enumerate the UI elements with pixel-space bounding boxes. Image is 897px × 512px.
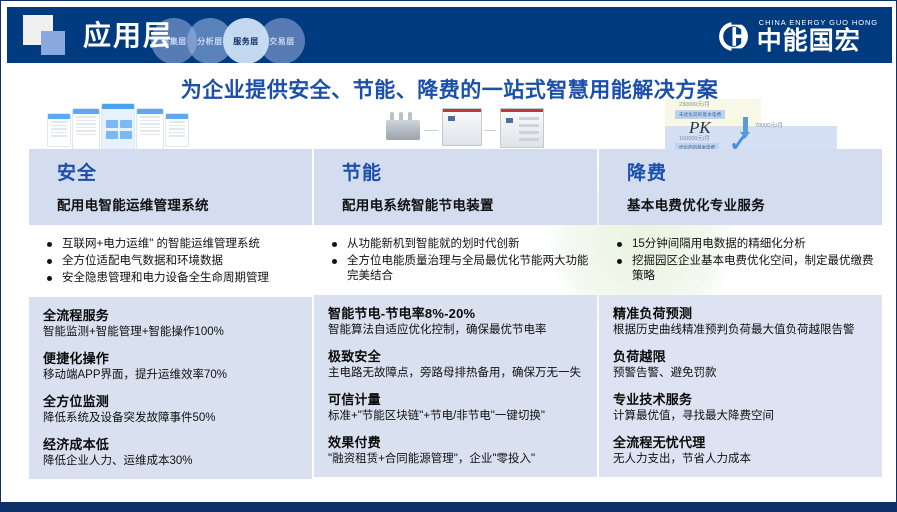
layer-circle-label: 分析层 bbox=[197, 36, 223, 47]
bullet-item: 全方位电能质量治理与全局最优化节能两大功能完美结合 bbox=[331, 254, 597, 284]
slide-header: 采集层 分析层 交易层 服务层 应用层 CHINA EN bbox=[7, 7, 892, 63]
phone-mockup bbox=[47, 113, 71, 147]
feature-title: 全方位监测 bbox=[43, 393, 301, 410]
layer-circles-group: 采集层 分析层 交易层 服务层 bbox=[151, 18, 327, 63]
feature-title: 精准负荷预测 bbox=[613, 305, 871, 322]
feature-title: 智能节电-节电率8%-20% bbox=[328, 305, 586, 322]
column-subtitle: 配用电系统智能节电装置 bbox=[342, 194, 597, 214]
feature-desc: 根据历史曲线精准预判负荷最大值负荷越限告警 bbox=[613, 323, 871, 338]
feature-desc: 无人力支出，节省人力成本 bbox=[613, 452, 871, 467]
artwork-pk-comparison: 230000元/月 未优化前的基本电费 PK 70000元/月 160000元/… bbox=[599, 101, 882, 149]
phone-mockups bbox=[47, 103, 187, 149]
feature-item: 专业技术服务 计算最优值，寻找最大降费空间 bbox=[613, 391, 871, 424]
bullet-item: 挖掘园区企业基本电费优化空间，制定最优缴费策略 bbox=[616, 254, 882, 284]
feature-title: 可信计量 bbox=[328, 391, 586, 408]
feature-title: 极致安全 bbox=[328, 348, 586, 365]
feature-item: 可信计量 标准+"节能区块链"+节电/非节电"一键切换" bbox=[328, 391, 586, 424]
brand-logo: CHINA ENERGY GUO HONG 中能国宏 bbox=[717, 16, 878, 56]
equipment-illustration bbox=[386, 102, 546, 148]
pk-unit-before: 元/月 bbox=[697, 102, 710, 108]
phone-mockup-primary bbox=[101, 103, 135, 151]
column-header-cost-reduction: 降费 基本电费优化专业服务 bbox=[599, 149, 882, 225]
feature-title: 专业技术服务 bbox=[613, 391, 871, 408]
feature-title: 全流程服务 bbox=[43, 307, 301, 324]
pk-saving-value: 70000元/月 bbox=[755, 118, 783, 130]
brand-name-cn: 中能国宏 bbox=[757, 28, 878, 54]
logo-square-blue bbox=[41, 31, 65, 55]
header-title: 应用层 bbox=[83, 19, 173, 53]
feature-item: 智能节电-节电率8%-20% 智能算法自适应优化控制，确保最优节电率 bbox=[328, 305, 586, 338]
feature-desc: 智能算法自适应优化控制，确保最优节电率 bbox=[328, 323, 586, 338]
column-category: 安全 bbox=[57, 163, 312, 185]
layer-circle-label: 交易层 bbox=[269, 36, 295, 47]
feature-title: 经济成本低 bbox=[43, 436, 301, 453]
feature-title: 效果付费 bbox=[328, 434, 586, 451]
feature-item: 全流程无忧代理 无人力支出，节省人力成本 bbox=[613, 434, 871, 467]
feature-item: 负荷越限 预警告警、避免罚款 bbox=[613, 348, 871, 381]
pk-value-after: 160000元/月 bbox=[679, 133, 710, 142]
footer-bar bbox=[1, 502, 897, 511]
pk-unit-after: 元/月 bbox=[697, 136, 710, 142]
phone-mockup bbox=[136, 108, 164, 150]
feature-item: 便捷化操作 移动端APP界面，提升运维效率70% bbox=[43, 350, 301, 383]
feature-title: 便捷化操作 bbox=[43, 350, 301, 367]
feature-desc: 移动端APP界面，提升运维效率70% bbox=[43, 368, 301, 383]
column-bullets: 从功能新机到智能就的划时代创新 全方位电能质量治理与全局最优化节能两大功能完美结… bbox=[314, 237, 597, 284]
connector-line bbox=[484, 130, 496, 131]
column-subtitle: 基本电费优化专业服务 bbox=[627, 194, 882, 214]
feature-item: 极致安全 主电路无故障点，旁路母排热备用，确保万无一失 bbox=[328, 348, 586, 381]
feature-desc: 智能监测+智能管理+智能操作100% bbox=[43, 325, 301, 340]
power-g-icon bbox=[717, 20, 750, 53]
bullet-item: 安全隐患管理和电力设备全生命周期管理 bbox=[46, 271, 312, 286]
feature-desc: 降低系统及设备突发故障事件50% bbox=[43, 411, 301, 426]
column-subtitle: 配用电智能运维管理系统 bbox=[57, 194, 312, 214]
pk-value-before: 230000元/月 bbox=[679, 99, 710, 108]
transformer-icon bbox=[386, 120, 420, 140]
brand-name-en: CHINA ENERGY GUO HONG bbox=[759, 18, 878, 27]
layer-circle-service[interactable]: 服务层 bbox=[223, 18, 269, 63]
feature-desc: 标准+"节能区块链"+节电/非节电"一键切换" bbox=[328, 409, 586, 424]
bullet-item: 15分钟间隔用电数据的精细化分析 bbox=[616, 237, 882, 252]
bullet-item: 全方位适配电气数据和环境数据 bbox=[46, 254, 312, 269]
column-features-safety: 全流程服务 智能监测+智能管理+智能操作100% 便捷化操作 移动端APP界面，… bbox=[29, 297, 312, 479]
feature-title: 全流程无忧代理 bbox=[613, 434, 871, 451]
column-header-safety: 安全 配用电智能运维管理系统 bbox=[29, 149, 312, 225]
bullet-item: 从功能新机到智能就的划时代创新 bbox=[331, 237, 597, 252]
column-category: 降费 bbox=[627, 163, 882, 185]
column-bullets: 互联网+电力运维" 的智能运维管理系统 全方位适配电气数据和环境数据 安全隐患管… bbox=[29, 237, 312, 286]
column-energy-saving: 节能 配用电系统智能节电装置 从功能新机到智能就的划时代创新 全方位电能质量治理… bbox=[314, 101, 597, 477]
artwork-transformer-cabinets bbox=[314, 101, 597, 149]
pk-value-before-number: 230000 bbox=[679, 102, 697, 108]
pk-value-after-number: 160000 bbox=[679, 136, 697, 142]
control-cabinet-icon bbox=[442, 108, 482, 146]
column-bullets: 15分钟间隔用电数据的精细化分析 挖掘园区企业基本电费优化空间，制定最优缴费策略 bbox=[599, 237, 882, 284]
brand-text: CHINA ENERGY GUO HONG 中能国宏 bbox=[757, 18, 878, 54]
column-header-energy-saving: 节能 配用电系统智能节电装置 bbox=[314, 149, 597, 225]
feature-item: 全方位监测 降低系统及设备突发故障事件50% bbox=[43, 393, 301, 426]
column-safety: 安全 配用电智能运维管理系统 互联网+电力运维" 的智能运维管理系统 全方位适配… bbox=[29, 101, 312, 479]
feature-desc: 主电路无故障点，旁路母排热备用，确保万无一失 bbox=[328, 366, 586, 381]
square-logo-icon bbox=[23, 15, 79, 59]
switchgear-icon bbox=[500, 108, 544, 148]
pk-cost-chart: 230000元/月 未优化前的基本电费 PK 70000元/月 160000元/… bbox=[665, 99, 837, 151]
phone-mockup bbox=[72, 108, 100, 150]
bullet-item: 互联网+电力运维" 的智能运维管理系统 bbox=[46, 237, 312, 252]
feature-desc: "融资租赁+合同能源管理"，企业"零投入" bbox=[328, 452, 586, 467]
pk-saving-unit: 元/月 bbox=[770, 123, 783, 129]
layer-circle-label: 服务层 bbox=[233, 36, 259, 47]
phone-mockup bbox=[165, 113, 189, 147]
artwork-mobile-app-screens bbox=[29, 101, 312, 149]
feature-desc: 计算最优值，寻找最大降费空间 bbox=[613, 409, 871, 424]
column-category: 节能 bbox=[342, 163, 597, 185]
feature-item: 精准负荷预测 根据历史曲线精准预判负荷最大值负荷越限告警 bbox=[613, 305, 871, 338]
feature-desc: 降低企业人力、运维成本30% bbox=[43, 454, 301, 469]
feature-item: 效果付费 "融资租赁+合同能源管理"，企业"零投入" bbox=[328, 434, 586, 467]
column-features-cost-reduction: 精准负荷预测 根据历史曲线精准预判负荷最大值负荷越限告警 负荷越限 预警告警、避… bbox=[599, 295, 882, 477]
slide-root: 采集层 分析层 交易层 服务层 应用层 CHINA EN bbox=[0, 0, 897, 512]
feature-desc: 预警告警、避免罚款 bbox=[613, 366, 871, 381]
feature-item: 全流程服务 智能监测+智能管理+智能操作100% bbox=[43, 307, 301, 340]
feature-title: 负荷越限 bbox=[613, 348, 871, 365]
connector-line bbox=[424, 130, 438, 131]
feature-item: 经济成本低 降低企业人力、运维成本30% bbox=[43, 436, 301, 469]
pk-saving-number: 70000 bbox=[755, 123, 770, 129]
column-cost-reduction: 230000元/月 未优化前的基本电费 PK 70000元/月 160000元/… bbox=[599, 101, 882, 477]
column-features-energy-saving: 智能节电-节电率8%-20% 智能算法自适应优化控制，确保最优节电率 极致安全 … bbox=[314, 295, 597, 477]
